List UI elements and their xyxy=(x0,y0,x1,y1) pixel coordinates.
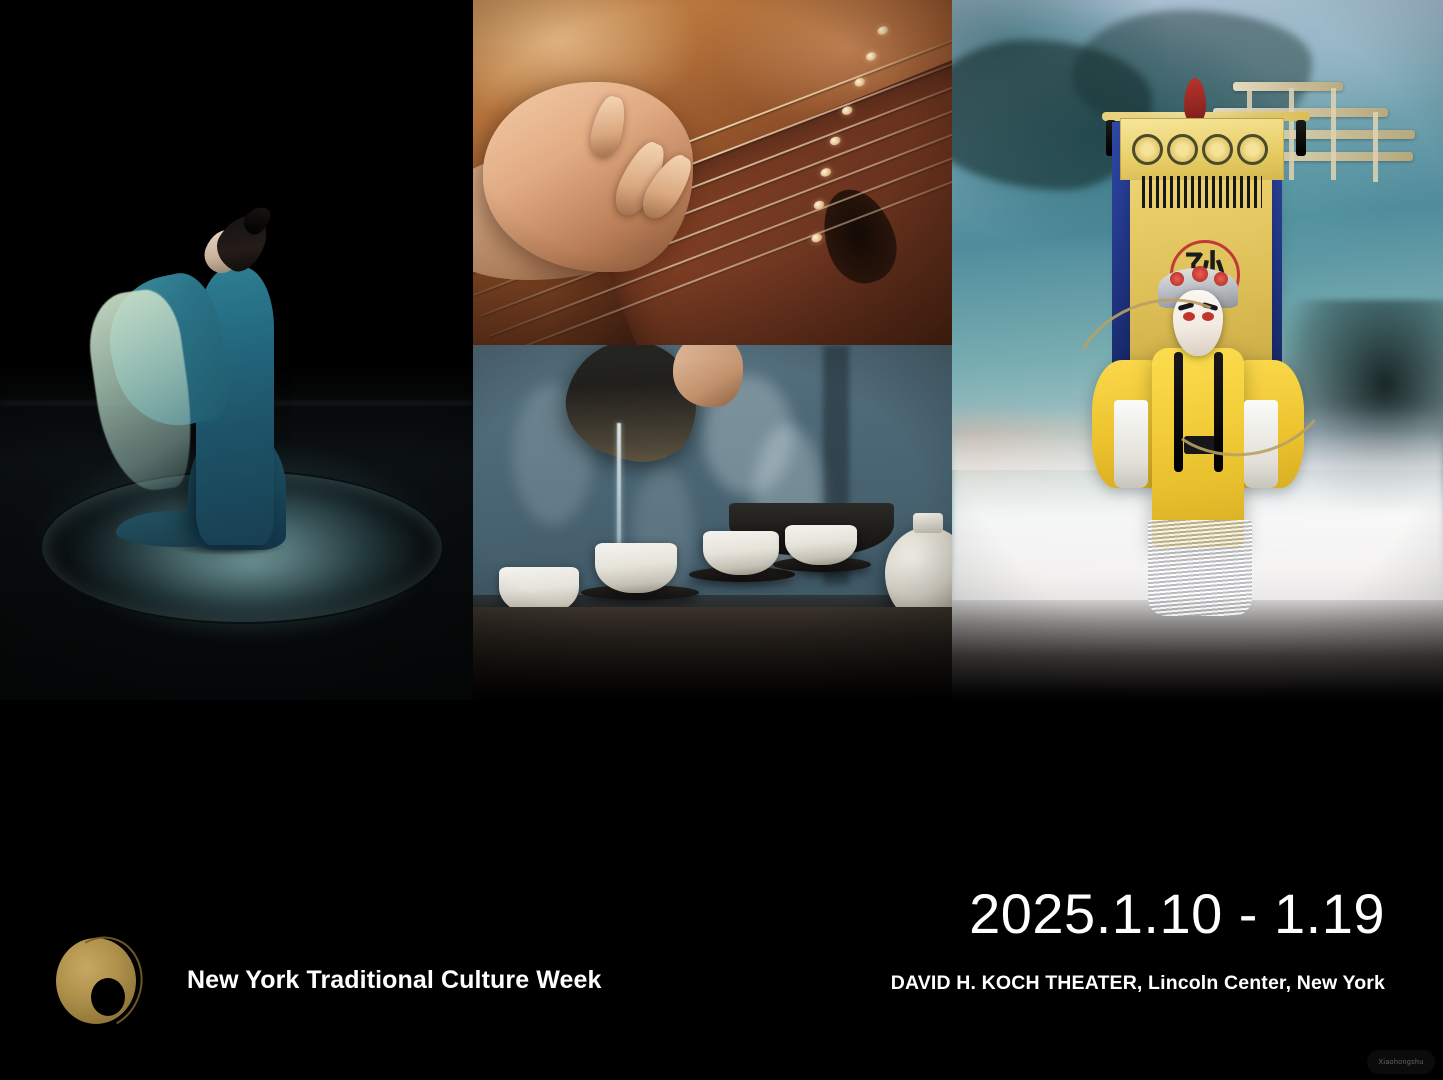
panel-classical-chinese-dance[interactable] xyxy=(0,0,473,700)
guqin-panel-vignette xyxy=(473,0,952,345)
brand-lockup: New York Traditional Culture Week xyxy=(50,928,602,1032)
poster-root: 孙 xyxy=(0,0,1443,1080)
tea-panel-vignette xyxy=(473,345,952,700)
panel-peking-opera[interactable]: 孙 xyxy=(952,0,1443,700)
event-date-range: 2025.1.10 - 1.19 xyxy=(891,886,1385,942)
event-details: 2025.1.10 - 1.19 DAVID H. KOCH THEATER, … xyxy=(891,886,1385,995)
watermark-badge: Xiaohongshu xyxy=(1367,1050,1435,1074)
dancer-panel-vignette xyxy=(0,0,473,700)
opera-panel-vignette xyxy=(952,0,1443,700)
panel-tea-ceremony[interactable] xyxy=(473,345,952,700)
watermark-label: Xiaohongshu xyxy=(1378,1059,1423,1066)
panel-guqin-performance[interactable] xyxy=(473,0,952,345)
brand-title: New York Traditional Culture Week xyxy=(187,966,602,995)
event-venue: DAVID H. KOCH THEATER, Lincoln Center, N… xyxy=(891,972,1385,995)
logo-inner-eye xyxy=(91,978,125,1016)
taiji-circle-logo-icon xyxy=(50,928,132,1032)
image-mosaic: 孙 xyxy=(0,0,1443,700)
